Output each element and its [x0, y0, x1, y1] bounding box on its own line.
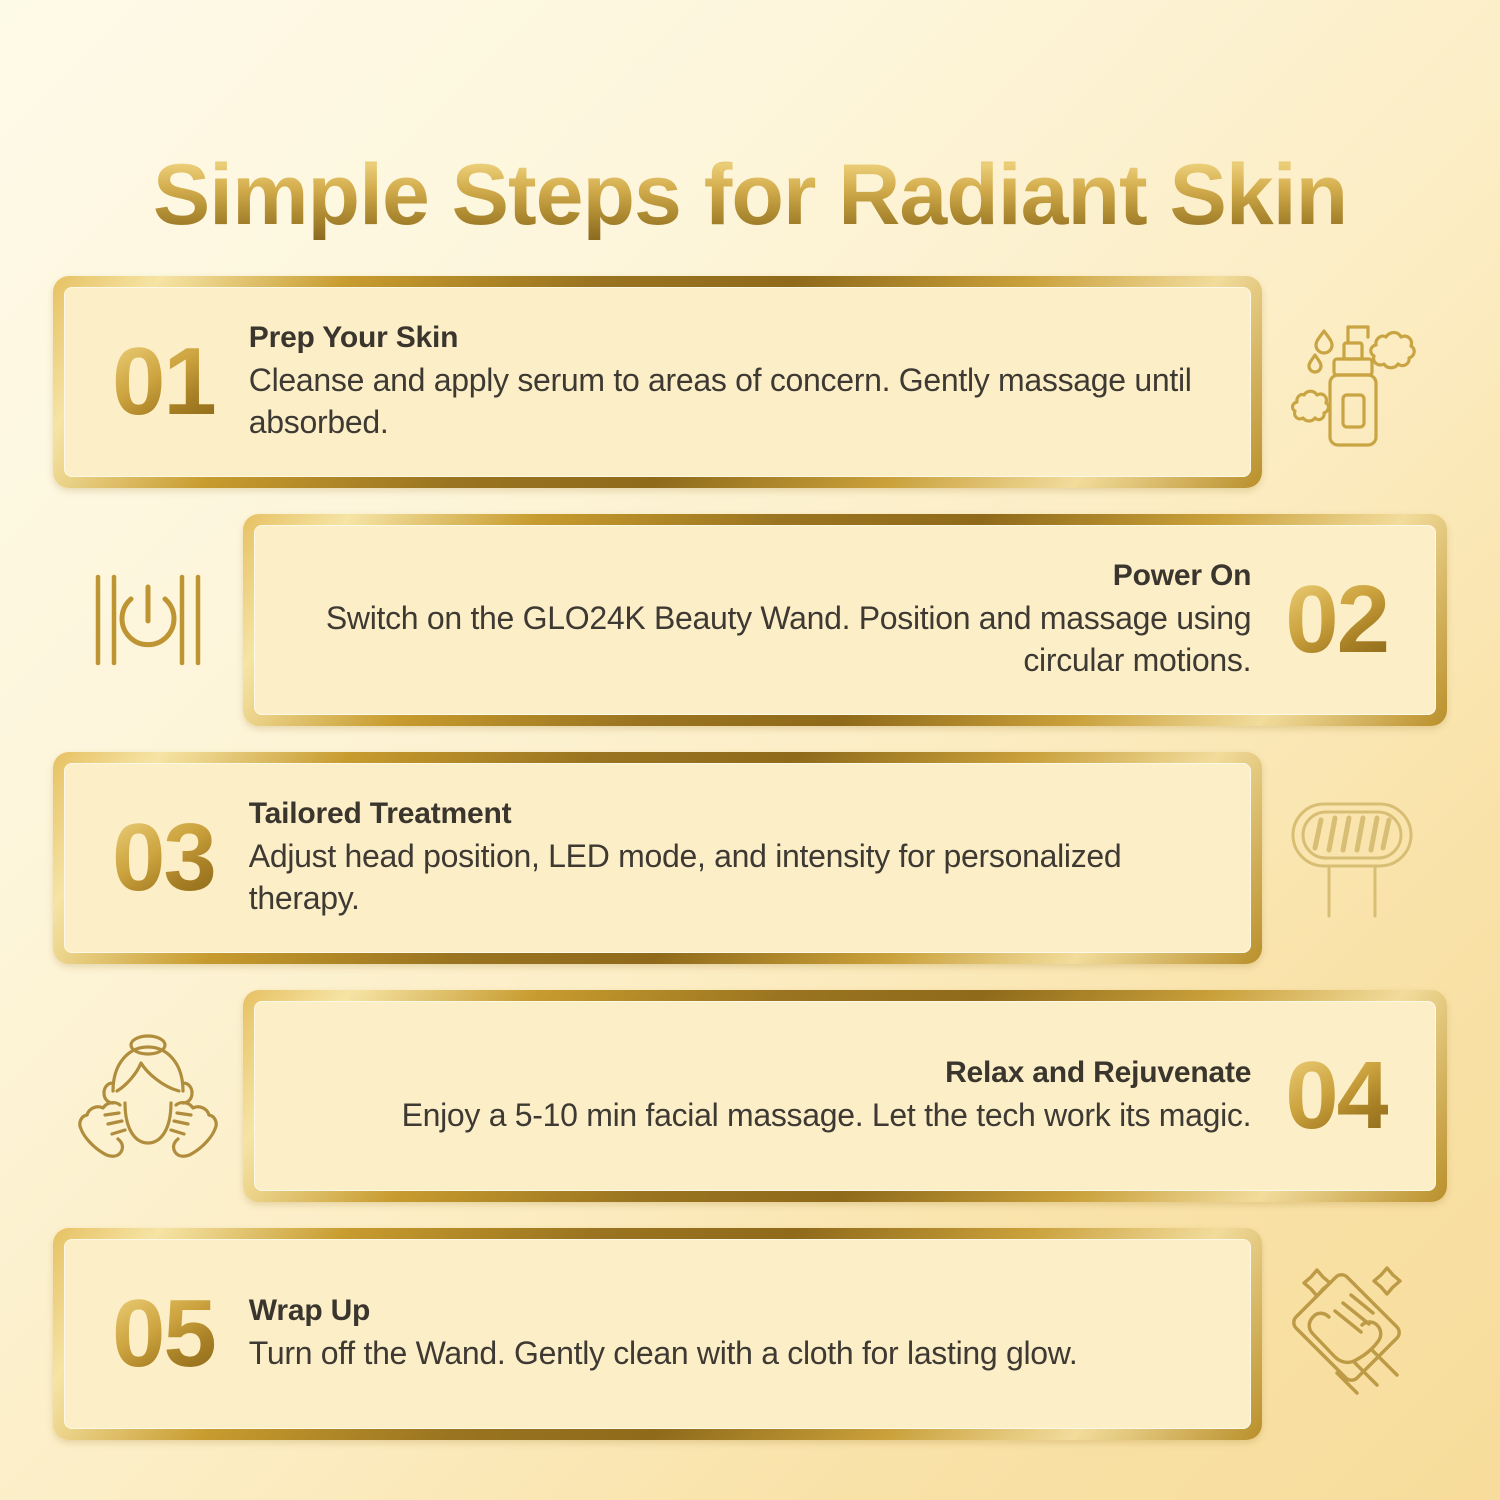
step-row-2: Power On Switch on the GLO24K Beauty Wan…	[53, 514, 1447, 729]
step-card-4[interactable]: Relax and Rejuvenate Enjoy a 5-10 min fa…	[243, 990, 1447, 1202]
step-number-2: 02	[1285, 572, 1388, 668]
cleaning-cloth-icon	[1257, 1228, 1447, 1440]
step-row-3: 03 Tailored Treatment Adjust head positi…	[53, 752, 1447, 967]
step-title-4: Relax and Rejuvenate	[290, 1055, 1251, 1092]
step-title-2: Power On	[290, 558, 1251, 595]
step-description-3: Adjust head position, LED mode, and inte…	[249, 835, 1215, 920]
power-button-icon	[53, 514, 243, 726]
step-row-1: 01 Prep Your Skin Cleanse and apply seru…	[53, 276, 1447, 491]
led-head-icon	[1257, 752, 1447, 964]
page-title: Simple Steps for Radiant Skin	[0, 150, 1500, 240]
step-title-5: Wrap Up	[249, 1293, 1215, 1330]
step-number-4: 04	[1285, 1048, 1388, 1144]
pump-bottle-icon	[1257, 276, 1447, 488]
step-number-3: 03	[112, 810, 215, 906]
step-description-5: Turn off the Wand. Gently clean with a c…	[249, 1332, 1215, 1375]
face-massage-icon	[53, 990, 243, 1202]
infographic-poster: Simple Steps for Radiant Skin 01 Prep Yo…	[0, 0, 1500, 1500]
step-number-1: 01	[112, 334, 215, 430]
step-title-3: Tailored Treatment	[249, 796, 1215, 833]
step-description-2: Switch on the GLO24K Beauty Wand. Positi…	[290, 597, 1251, 682]
step-title-1: Prep Your Skin	[249, 320, 1215, 357]
step-description-4: Enjoy a 5-10 min facial massage. Let the…	[290, 1094, 1251, 1137]
step-row-5: 05 Wrap Up Turn off the Wand. Gently cle…	[53, 1228, 1447, 1443]
step-description-1: Cleanse and apply serum to areas of conc…	[249, 359, 1215, 444]
step-card-5[interactable]: 05 Wrap Up Turn off the Wand. Gently cle…	[53, 1228, 1262, 1440]
step-card-2[interactable]: Power On Switch on the GLO24K Beauty Wan…	[243, 514, 1447, 726]
step-card-1[interactable]: 01 Prep Your Skin Cleanse and apply seru…	[53, 276, 1262, 488]
step-number-5: 05	[112, 1286, 215, 1382]
step-row-4: Relax and Rejuvenate Enjoy a 5-10 min fa…	[53, 990, 1447, 1205]
step-card-3[interactable]: 03 Tailored Treatment Adjust head positi…	[53, 752, 1262, 964]
